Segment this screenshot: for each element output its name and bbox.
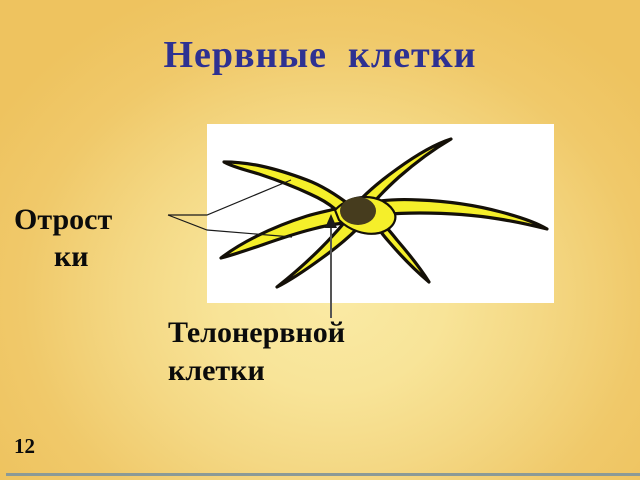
slide-number: 12 (14, 434, 35, 459)
nerve-cell-figure (207, 124, 554, 303)
presentation-slide: Нервные клетки Отрост ки Тело (0, 0, 640, 480)
label-soma-line1: Телонервной (168, 314, 580, 352)
label-soma-word1: Тело (168, 316, 232, 349)
label-soma: Телонервной клетки (168, 314, 580, 390)
label-soma-line2: клетки (168, 352, 580, 390)
label-processes-line2: ки (14, 239, 182, 276)
label-processes-line1: Отрост (14, 202, 182, 239)
page-title: Нервные клетки (0, 36, 640, 76)
neuron-illustration (207, 124, 554, 303)
label-soma-word2: нервной (232, 316, 345, 349)
nucleus (340, 197, 376, 225)
footer-divider (6, 473, 640, 476)
label-processes: Отрост ки (14, 202, 182, 275)
